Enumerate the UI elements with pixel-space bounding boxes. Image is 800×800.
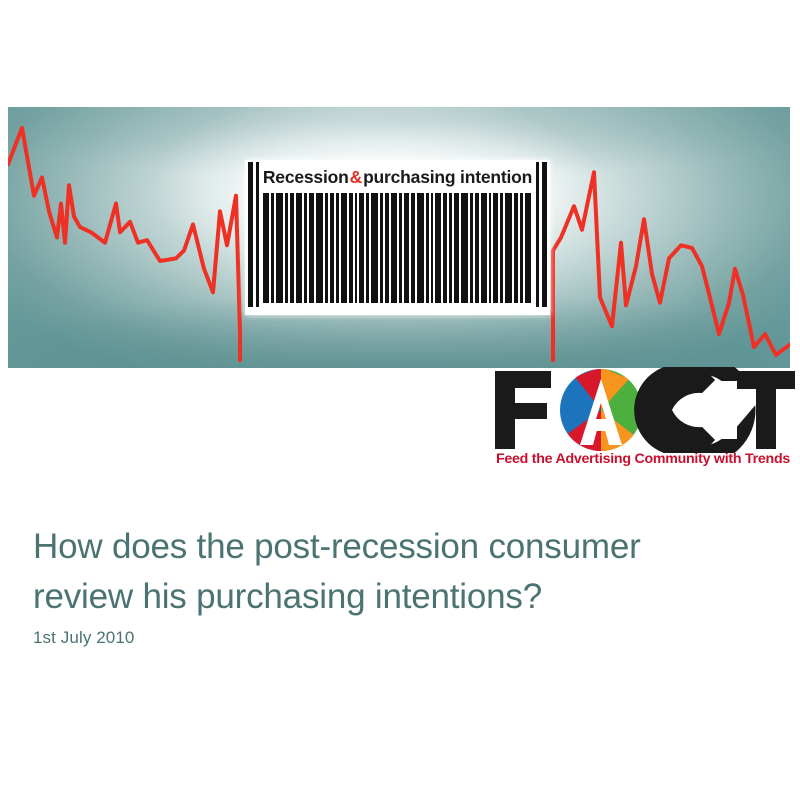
- barcode-bar: [443, 193, 447, 303]
- barcode-bar: [304, 193, 307, 303]
- barcode-bar: [404, 193, 409, 303]
- logo-letter-f: [495, 371, 551, 449]
- barcode-bar: [325, 193, 328, 303]
- barcode-bar: [435, 193, 441, 303]
- barcode-guard-right-inner: [536, 162, 539, 307]
- logo-letter-a: [559, 367, 644, 453]
- trend-line-2: [553, 172, 790, 360]
- barcode-bar: [514, 193, 518, 303]
- barcode-bar: [349, 193, 353, 303]
- barcode-bar: [371, 193, 378, 303]
- barcode-bar: [336, 193, 339, 303]
- barcode-title-ampersand: &: [349, 167, 363, 188]
- barcode-bar-pattern: [245, 193, 550, 306]
- barcode-graphic: Recession & purchasing intention: [245, 160, 550, 315]
- barcode-bar: [411, 193, 415, 303]
- barcode-bar: [470, 193, 473, 303]
- barcode-bar: [426, 193, 429, 303]
- logo-tagline: Feed the Advertising Community with Tren…: [491, 451, 795, 467]
- barcode-bar: [391, 193, 397, 303]
- barcode-bar: [505, 193, 512, 303]
- barcode-bar: [355, 193, 357, 303]
- barcode-bar: [489, 193, 491, 303]
- barcode-bar: [449, 193, 452, 303]
- barcode-bar: [475, 193, 479, 303]
- barcode-bar: [481, 193, 487, 303]
- barcode-bar: [454, 193, 459, 303]
- barcode-bar: [417, 193, 424, 303]
- barcode-bar: [276, 193, 283, 303]
- barcode-bar: [316, 193, 323, 303]
- barcode-bar: [385, 193, 389, 303]
- barcode-bar: [290, 193, 294, 303]
- barcode-guard-right-outer: [542, 162, 547, 307]
- barcode-bar: [285, 193, 288, 303]
- barcode-title: Recession & purchasing intention: [245, 162, 550, 192]
- headline-line-1: How does the post-recession consumer: [33, 522, 763, 572]
- barcode-bar: [341, 193, 347, 303]
- headline-line-2: review his purchasing intentions?: [33, 572, 763, 622]
- barcode-title-suffix: purchasing intention: [363, 167, 532, 188]
- hero-banner: Recession & purchasing intention: [8, 107, 790, 368]
- barcode-guard-left-inner: [256, 162, 259, 307]
- barcode-bar: [366, 193, 369, 303]
- barcode-bar: [500, 193, 503, 303]
- barcode-bar: [263, 193, 269, 303]
- barcode-bar: [431, 193, 433, 303]
- barcode-bar: [520, 193, 523, 303]
- barcode-bars: [245, 193, 550, 306]
- presentation-date: 1st July 2010: [33, 628, 134, 648]
- barcode-bar: [461, 193, 468, 303]
- barcode-bar: [493, 193, 498, 303]
- slide-root: Recession & purchasing intention: [0, 0, 800, 800]
- barcode-bar: [296, 193, 302, 303]
- barcode-bar: [359, 193, 364, 303]
- barcode-title-prefix: Recession: [263, 167, 349, 188]
- barcode-bar: [271, 193, 274, 303]
- trend-line-1: [8, 128, 240, 360]
- barcode-guard-left-outer: [248, 162, 253, 307]
- barcode-bar: [309, 193, 314, 303]
- fact-logo-mark: [489, 367, 795, 453]
- fact-logo: Feed the Advertising Community with Tren…: [489, 367, 795, 479]
- barcode-bar: [330, 193, 334, 303]
- barcode-bar: [399, 193, 402, 303]
- barcode-bar: [525, 193, 531, 303]
- page-title: How does the post-recession consumer rev…: [33, 522, 763, 621]
- barcode-bar: [380, 193, 383, 303]
